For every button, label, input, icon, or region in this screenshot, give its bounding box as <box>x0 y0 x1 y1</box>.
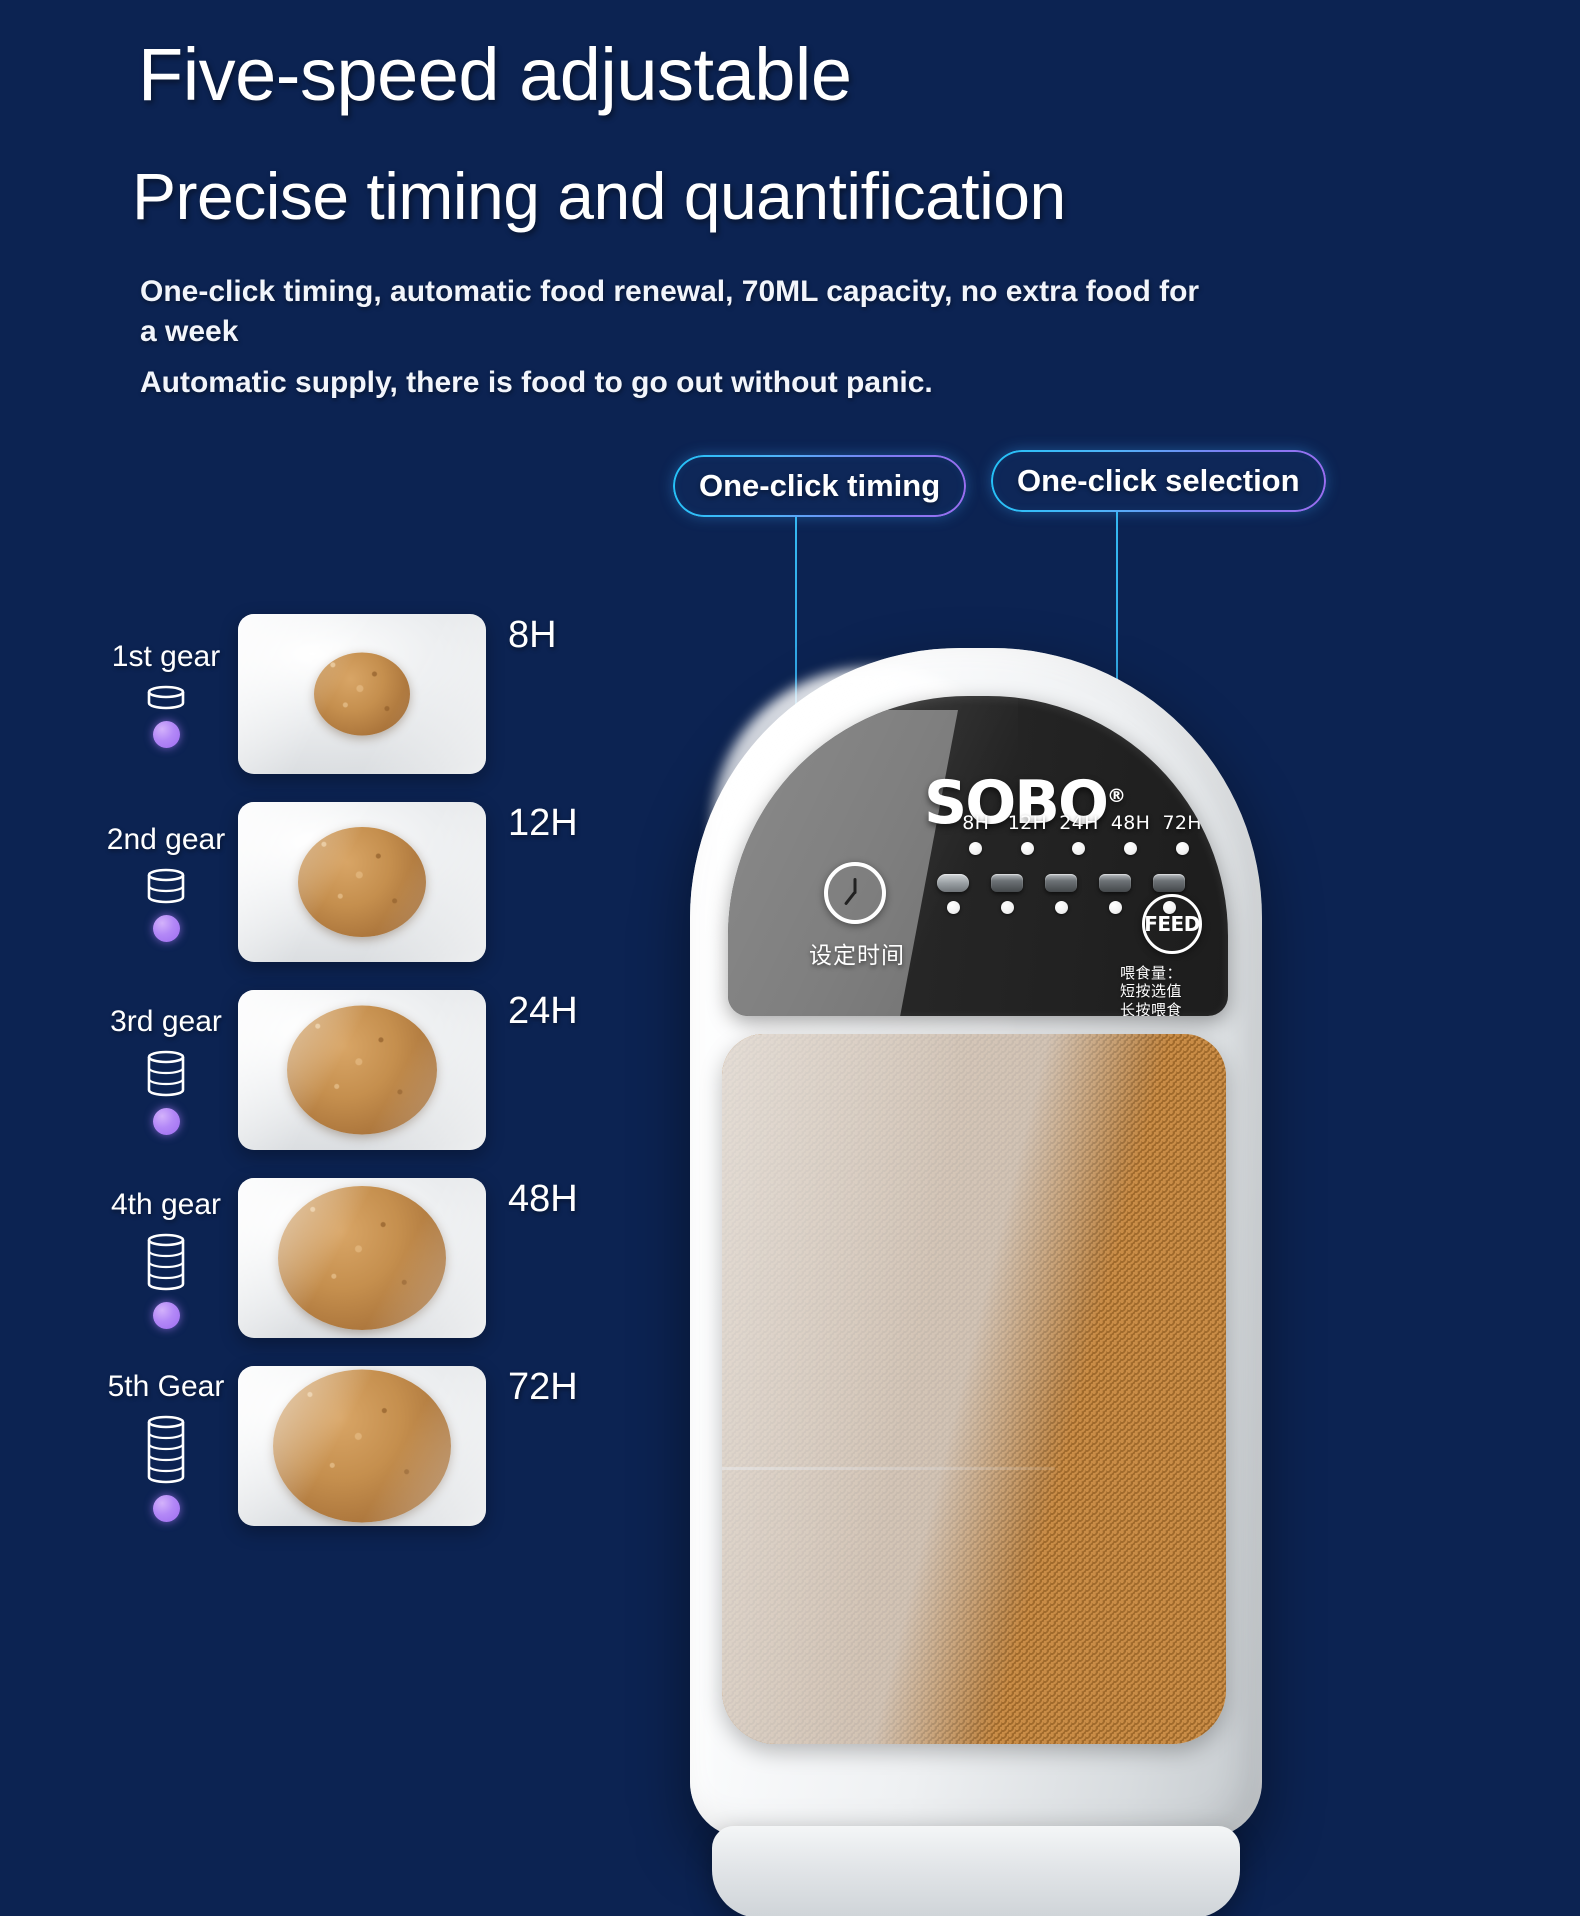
gear-stack-icon <box>145 683 187 712</box>
gear-hour-label: 12H <box>508 802 578 845</box>
food-hopper-window <box>722 1034 1226 1744</box>
gear-indicator-dot <box>153 915 180 942</box>
status-led <box>1021 842 1034 855</box>
pet-feeder-device: SOBO® ↰ 设定时间 8H12H24H48H72H FEED 喂食量： 短按… <box>660 648 1280 1916</box>
photo-sheen <box>238 1178 486 1338</box>
food-portion-photo <box>238 1178 486 1338</box>
gear-row: 5th Gear72H <box>106 1352 666 1540</box>
hour-led-column: 12H <box>1002 812 1054 855</box>
food-portion-photo <box>238 1366 486 1526</box>
portion-led <box>947 901 960 914</box>
gear-hour-label: 72H <box>508 1366 578 1409</box>
feed-instruction-note: 喂食量： 短按选值 长按喂食 <box>1120 964 1228 1016</box>
food-portion-photo <box>238 990 486 1150</box>
portion-button-column[interactable] <box>926 874 980 914</box>
page-subtitle: Precise timing and quantification <box>132 163 1512 229</box>
gear-label: 1st gear <box>112 640 220 674</box>
portion-led <box>1001 901 1014 914</box>
gear-stack-icon <box>145 866 187 906</box>
feed-button[interactable]: FEED <box>1142 894 1202 954</box>
gear-hour-label: 48H <box>508 1178 578 1221</box>
gear-row: 1st gear8H <box>106 600 666 788</box>
gear-stack-icon <box>145 1231 187 1293</box>
callout-timing-label: One-click timing <box>699 468 940 504</box>
portion-button-column[interactable] <box>1034 874 1088 914</box>
portion-push-button[interactable] <box>937 874 969 892</box>
callout-one-click-selection: One-click selection <box>991 450 1326 512</box>
description-line-1: One-click timing, automatic food renewal… <box>140 272 1200 352</box>
feed-note-line-3: 长按喂食 <box>1120 1001 1228 1016</box>
status-led <box>1124 842 1137 855</box>
page-title: Five-speed adjustable <box>138 38 1438 112</box>
hopper-glass-shade <box>722 1034 1226 1744</box>
gear-label: 5th Gear <box>108 1370 225 1404</box>
hour-led-column: 72H <box>1156 812 1208 855</box>
food-portion-photo <box>238 614 486 774</box>
description-line-2: Automatic supply, there is food to go ou… <box>140 363 1240 403</box>
gear-indicator-dot <box>153 1302 180 1329</box>
gear-meta: 5th Gear <box>106 1370 226 1522</box>
portion-button-column[interactable] <box>1088 874 1142 914</box>
gear-row: 3rd gear24H <box>106 976 666 1164</box>
photo-sheen <box>238 802 486 962</box>
hour-led-label: 24H <box>1053 812 1105 834</box>
hour-led-column: 48H <box>1105 812 1157 855</box>
portion-push-button[interactable] <box>991 874 1023 892</box>
hour-led-row: 8H12H24H48H72H <box>950 812 1208 855</box>
photo-sheen <box>238 990 486 1150</box>
gear-indicator-dot <box>153 1495 180 1522</box>
set-time-label: 设定时间 <box>792 936 922 970</box>
gear-meta: 2nd gear <box>106 823 226 942</box>
gear-meta: 4th gear <box>106 1188 226 1329</box>
gear-indicator-dot <box>153 721 180 748</box>
hour-led-column: 24H <box>1053 812 1105 855</box>
gear-hour-label: 24H <box>508 990 578 1033</box>
portion-push-button[interactable] <box>1153 874 1185 892</box>
hour-led-label: 72H <box>1156 812 1208 834</box>
status-led <box>1176 842 1189 855</box>
hour-led-column: 8H <box>950 812 1002 855</box>
gear-row: 2nd gear12H <box>106 788 666 976</box>
registered-mark: ® <box>1107 785 1126 807</box>
portion-push-button[interactable] <box>1099 874 1131 892</box>
callout-selection-label: One-click selection <box>1017 463 1300 499</box>
gear-stack-icon <box>145 1048 187 1099</box>
food-portion-photo <box>238 802 486 962</box>
device-base <box>712 1826 1240 1916</box>
portion-led <box>1109 901 1122 914</box>
feed-note-line-1: 喂食量： <box>1120 964 1228 982</box>
clock-minute-hand <box>844 891 856 906</box>
status-led <box>1072 842 1085 855</box>
portion-button-column[interactable] <box>980 874 1034 914</box>
gear-meta: 1st gear <box>106 640 226 748</box>
product-feature-poster: Five-speed adjustable Precise timing and… <box>0 0 1580 1916</box>
gear-hour-label: 8H <box>508 614 557 657</box>
status-led <box>969 842 982 855</box>
gear-label: 3rd gear <box>110 1005 222 1039</box>
hour-led-label: 12H <box>1002 812 1054 834</box>
hour-led-label: 8H <box>950 812 1002 834</box>
clock-reset-arrow-icon: ↰ <box>730 698 746 717</box>
gear-indicator-dot <box>153 1108 180 1135</box>
gear-label: 2nd gear <box>107 823 225 857</box>
gear-row: 4th gear48H <box>106 1164 666 1352</box>
gear-meta: 3rd gear <box>106 1005 226 1135</box>
photo-sheen <box>238 614 486 774</box>
callout-one-click-timing: One-click timing <box>673 455 966 517</box>
photo-sheen <box>238 1366 486 1526</box>
gear-label: 4th gear <box>111 1188 221 1222</box>
set-time-clock-icon[interactable] <box>824 862 886 924</box>
feed-note-line-2: 短按选值 <box>1120 982 1228 1000</box>
portion-push-button[interactable] <box>1045 874 1077 892</box>
hour-led-label: 48H <box>1105 812 1157 834</box>
gear-stack-icon <box>145 1413 187 1486</box>
portion-led <box>1055 901 1068 914</box>
gear-comparison-list: 1st gear8H2nd gear12H3rd gear24H4th gear… <box>106 600 666 1540</box>
